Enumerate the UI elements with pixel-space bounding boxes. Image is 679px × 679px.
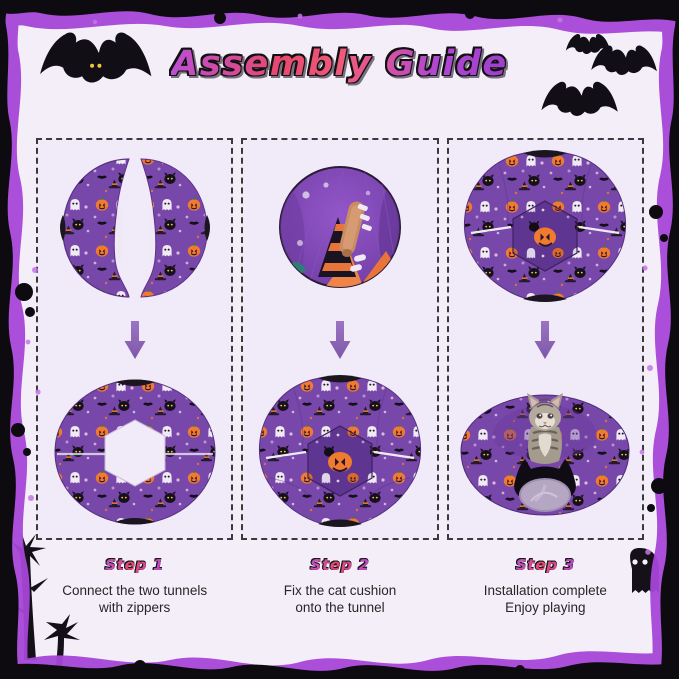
caption-step-2: Step 2 Fix the cat cushion onto the tunn… <box>241 556 438 646</box>
caption-step-1: Step 1 Connect the two tunnels with zipp… <box>36 556 233 646</box>
step-captions-group: Step 1 Connect the two tunnels with zipp… <box>36 556 644 646</box>
step-2-top-image-cell <box>243 140 436 315</box>
step-3-label: Step 3 <box>516 556 575 574</box>
step-1-arrow <box>38 315 231 367</box>
step-1-caption-line-2: with zippers <box>36 600 233 617</box>
step-panel-2 <box>241 138 438 540</box>
joined-ring-tunnel-image <box>45 374 225 530</box>
assembly-guide-poster: Assembly Guide <box>0 0 679 679</box>
step-panel-1 <box>36 138 233 540</box>
step-1-bottom-image-cell <box>38 366 231 538</box>
step-2-arrow <box>243 315 436 367</box>
tunnel-half-left <box>60 159 129 297</box>
step-3-caption-line-2: Enjoy playing <box>447 600 644 617</box>
step-2-caption-line-1: Fix the cat cushion <box>241 583 438 600</box>
tunnel-with-cushion-image <box>250 374 430 530</box>
step-2-label: Step 2 <box>310 556 369 574</box>
step-2-caption-line-2: onto the tunnel <box>241 600 438 617</box>
down-arrow-icon <box>532 321 558 361</box>
down-arrow-icon <box>327 321 353 361</box>
step-3-caption-line-1: Installation complete <box>447 583 644 600</box>
page-title-wrap: Assembly Guide <box>0 44 679 84</box>
two-half-tunnels-split-image <box>45 147 225 307</box>
cat-sitting-in-tunnel-image <box>453 377 637 527</box>
step-1-caption-line-1: Connect the two tunnels <box>36 583 233 600</box>
tunnel-half-right <box>141 159 210 297</box>
steps-panel-group <box>36 138 644 540</box>
bat-medium-top-right-c <box>541 82 617 116</box>
down-arrow-icon <box>122 321 148 361</box>
step-3-top-image-cell <box>449 140 642 315</box>
page-title: Assembly Guide <box>171 44 507 84</box>
step-1-label: Step 1 <box>105 556 164 574</box>
step-2-bottom-image-cell <box>243 366 436 538</box>
caption-step-3: Step 3 Installation complete Enjoy playi… <box>447 556 644 646</box>
tabby-cat <box>527 393 563 464</box>
cat-face-opening <box>514 459 576 512</box>
step-1-top-image-cell <box>38 140 231 315</box>
step-3-arrow <box>449 315 642 367</box>
assembled-tunnel-top-view-image <box>455 149 635 305</box>
step-panel-3 <box>447 138 644 540</box>
zipper-closeup-circle-image <box>278 165 402 289</box>
step-3-bottom-image-cell <box>449 366 642 538</box>
